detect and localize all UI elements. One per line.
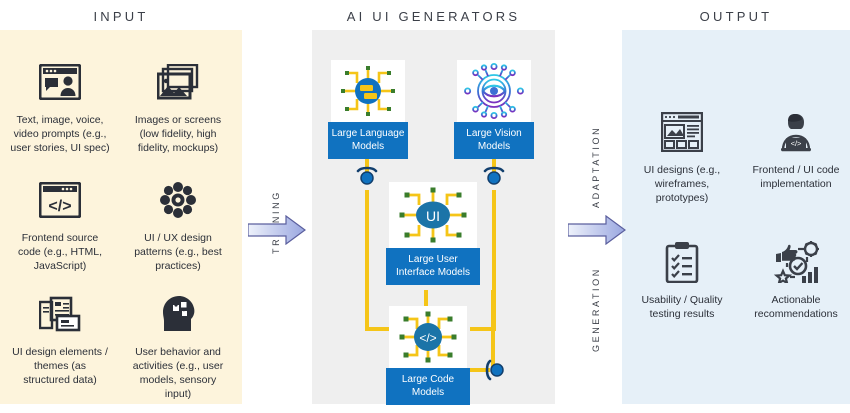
input-item-video-prompts: Text, image, voice, video prompts (e.g.,…	[6, 58, 114, 155]
output-panel	[622, 30, 850, 404]
svg-text:</>: </>	[791, 139, 802, 148]
head-puzzle-icon	[124, 290, 232, 338]
input-item-caption: UI / UX design patterns (e.g., best prac…	[124, 231, 232, 273]
vision-eye-network-icon	[457, 60, 531, 122]
input-item-user-behavior: User behavior and activities (e.g., user…	[124, 290, 232, 401]
clipboard-checklist-icon	[628, 238, 736, 286]
column-title-generators: AI UI GENERATORS	[312, 9, 555, 24]
ui-node-text: UI	[426, 208, 440, 224]
connector-valve-lvm	[483, 165, 505, 187]
input-item-caption: User behavior and activities (e.g., user…	[124, 345, 232, 401]
output-item-frontend-code: </> Frontend / UI code implementation	[742, 108, 850, 191]
column-title-output: OUTPUT	[622, 9, 850, 24]
ui-network-icon: UI	[389, 182, 477, 248]
svg-text:</>: </>	[48, 198, 71, 215]
model-label: Large User Interface Models	[386, 248, 480, 285]
output-item-caption: UI designs (e.g., wireframes, prototypes…	[628, 163, 736, 205]
output-item-usability-testing: Usability / Quality testing results	[628, 238, 736, 321]
model-large-language-models[interactable]: Large Language Models	[328, 60, 408, 159]
training-arrow	[248, 215, 306, 245]
design-pattern-icon	[124, 176, 232, 224]
output-item-actionable-recommendations: Actionable recommendations	[742, 238, 850, 321]
recommendations-icon	[742, 238, 850, 286]
developer-laptop-icon: </>	[742, 108, 850, 156]
adaptation-label: ADAPTATION	[591, 118, 601, 216]
connector-valve-llm	[356, 165, 378, 187]
input-item-caption: Frontend source code (e.g., HTML, JavaSc…	[6, 231, 114, 273]
code-browser-icon: </>	[6, 176, 114, 224]
model-large-user-interface-models[interactable]: UI Large User Interface Models	[386, 182, 480, 285]
video-prompt-icon	[6, 58, 114, 106]
input-item-frontend-source-code: </> Frontend source code (e.g., HTML, Ja…	[6, 176, 114, 273]
adaptation-generation-arrow	[568, 215, 626, 245]
output-item-caption: Actionable recommendations	[742, 293, 850, 321]
wire-llm-down-b	[365, 190, 369, 331]
model-label: Large Language Models	[328, 122, 408, 159]
diagram-canvas: INPUT AI UI GENERATORS OUTPUT Text, imag…	[0, 0, 850, 413]
input-item-images-or-screens: Images or screens (low fidelity, high fi…	[124, 58, 232, 155]
wire-lcm-up	[491, 290, 495, 370]
model-large-vision-models[interactable]: Large Vision Models	[454, 60, 534, 159]
column-title-input: INPUT	[0, 9, 242, 24]
output-item-ui-designs: UI designs (e.g., wireframes, prototypes…	[628, 108, 736, 205]
input-item-caption: Images or screens (low fidelity, high fi…	[124, 113, 232, 155]
model-label: Large Vision Models	[454, 122, 534, 159]
ui-elements-icon	[6, 290, 114, 338]
output-item-caption: Frontend / UI code implementation	[742, 163, 850, 191]
model-label: Large Code Models	[386, 368, 470, 405]
code-node-text: </>	[419, 331, 436, 345]
input-item-caption: Text, image, voice, video prompts (e.g.,…	[6, 113, 114, 155]
output-item-caption: Usability / Quality testing results	[628, 293, 736, 321]
wireframe-layout-icon	[628, 108, 736, 156]
connector-valve-lcm	[485, 359, 507, 381]
code-network-icon: </>	[389, 306, 467, 368]
generation-label: GENERATION	[591, 258, 601, 362]
input-item-ui-ux-design-patterns: UI / UX design patterns (e.g., best prac…	[124, 176, 232, 273]
input-item-caption: UI design elements / themes (as structur…	[6, 345, 114, 387]
images-stack-icon	[124, 58, 232, 106]
input-item-ui-design-elements: UI design elements / themes (as structur…	[6, 290, 114, 387]
model-large-code-models[interactable]: </> Large Code Models	[386, 306, 470, 405]
llm-network-icon	[331, 60, 405, 122]
wire-luim-to-lcm	[424, 290, 428, 306]
